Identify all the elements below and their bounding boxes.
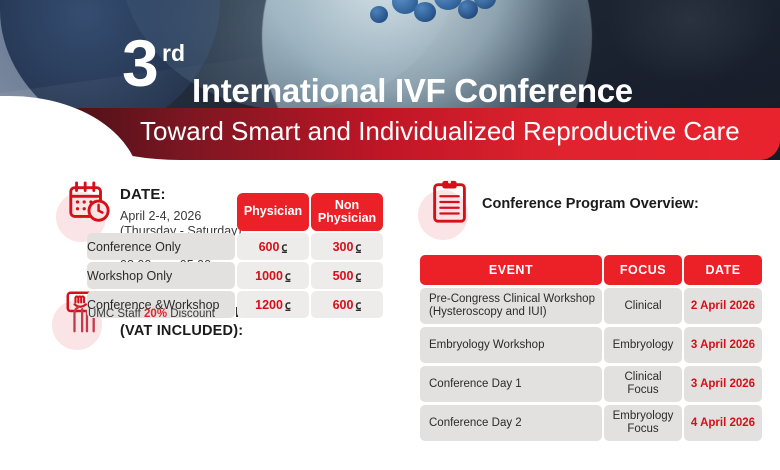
program-header-focus: FOCUS: [604, 255, 682, 285]
program-table-header-row: EVENT FOCUS DATE: [420, 255, 762, 285]
program-date: 3 April 2026: [684, 327, 762, 363]
fee-row-non-physician: 500⃀: [311, 262, 383, 289]
program-focus-line1: Embryology: [613, 410, 674, 422]
fee-amount: 600: [333, 298, 354, 312]
conference-program-table: EVENT FOCUS DATE Pre-Congress Clinical W…: [418, 252, 764, 444]
fee-amount: 500: [333, 269, 354, 283]
fee-row-name: Conference Only: [87, 233, 235, 260]
riyal-symbol: ⃀: [281, 240, 287, 254]
fee-discount-note: UMC Staff 20% Discount: [88, 308, 215, 320]
riyal-symbol: ⃀: [355, 298, 361, 312]
clipboard-glyph: [428, 178, 472, 226]
program-date: 3 April 2026: [684, 366, 762, 402]
program-focus-line2: Focus: [627, 384, 658, 396]
table-row: Workshop Only 1000⃀ 500⃀: [87, 262, 383, 289]
registration-fee-table: Physician Non Physician Conference Only …: [85, 191, 385, 320]
program-focus: Embryology Focus: [604, 405, 682, 441]
fee-note-prefix: UMC Staff: [88, 308, 144, 320]
riyal-symbol: ⃀: [355, 269, 361, 283]
program-event-line2: (Hysteroscopy and IUI): [429, 306, 547, 318]
fee-note-highlight: 20%: [144, 308, 167, 320]
program-event: Conference Day 1: [420, 366, 602, 402]
poster-header: 3 rd International IVF Conference Toward…: [0, 0, 780, 160]
program-focus-line1: Clinical: [624, 371, 661, 383]
program-focus: Clinical: [604, 288, 682, 324]
fee-row-physician: 1200⃀: [237, 291, 309, 318]
program-overview-title: Conference Program Overview:: [482, 196, 699, 212]
fee-row-non-physician: 600⃀: [311, 291, 383, 318]
fee-amount: 1200: [255, 298, 283, 312]
program-focus-line2: Focus: [627, 423, 658, 435]
program-focus: Clinical Focus: [604, 366, 682, 402]
fee-header-non-physician-l2: Physician: [318, 211, 376, 225]
program-date: 4 April 2026: [684, 405, 762, 441]
program-event-line1: Pre-Congress Clinical Workshop: [429, 293, 595, 305]
fee-header-non-physician: Non Physician: [311, 193, 383, 231]
table-row: Conference Day 1 Clinical Focus 3 April …: [420, 366, 762, 402]
edition-number: 3: [122, 30, 158, 96]
fee-label-line2: (VAT INCLUDED):: [120, 322, 380, 340]
table-row: Embryology Workshop Embryology 3 April 2…: [420, 327, 762, 363]
fee-table-header-row: Physician Non Physician: [87, 193, 383, 231]
program-header-date: DATE: [684, 255, 762, 285]
riyal-symbol: ⃀: [285, 269, 291, 283]
right-column: Conference Program Overview: EVENT FOCUS…: [400, 160, 780, 470]
fee-amount: 1000: [255, 269, 283, 283]
fee-amount: 600: [259, 240, 280, 254]
clipboard-icon: [418, 178, 480, 240]
conference-subtitle: Toward Smart and Individualized Reproduc…: [140, 116, 740, 147]
fee-row-name: Workshop Only: [87, 262, 235, 289]
program-header-event: EVENT: [420, 255, 602, 285]
fee-row-physician: 1000⃀: [237, 262, 309, 289]
fee-header-blank: [87, 193, 235, 231]
fee-row-physician: 600⃀: [237, 233, 309, 260]
cell-cluster-dot: [414, 2, 436, 22]
table-row: Conference Only 600⃀ 300⃀: [87, 233, 383, 260]
cell-cluster-dot: [370, 6, 388, 23]
conference-title: International IVF Conference: [192, 72, 633, 110]
fee-header-non-physician-l1: Non: [335, 198, 359, 212]
program-date: 2 April 2026: [684, 288, 762, 324]
fee-header-physician: Physician: [237, 193, 309, 231]
table-row: Pre-Congress Clinical Workshop (Hysteros…: [420, 288, 762, 324]
program-focus: Embryology: [604, 327, 682, 363]
riyal-symbol: ⃀: [355, 240, 361, 254]
edition-suffix: rd: [162, 40, 185, 67]
program-event: Pre-Congress Clinical Workshop (Hysteros…: [420, 288, 602, 324]
fee-row-non-physician: 300⃀: [311, 233, 383, 260]
riyal-symbol: ⃀: [285, 298, 291, 312]
fee-amount: 300: [333, 240, 354, 254]
program-event: Embryology Workshop: [420, 327, 602, 363]
fee-note-suffix: Discount: [167, 308, 215, 320]
program-event: Conference Day 2: [420, 405, 602, 441]
table-row: Conference Day 2 Embryology Focus 4 Apri…: [420, 405, 762, 441]
